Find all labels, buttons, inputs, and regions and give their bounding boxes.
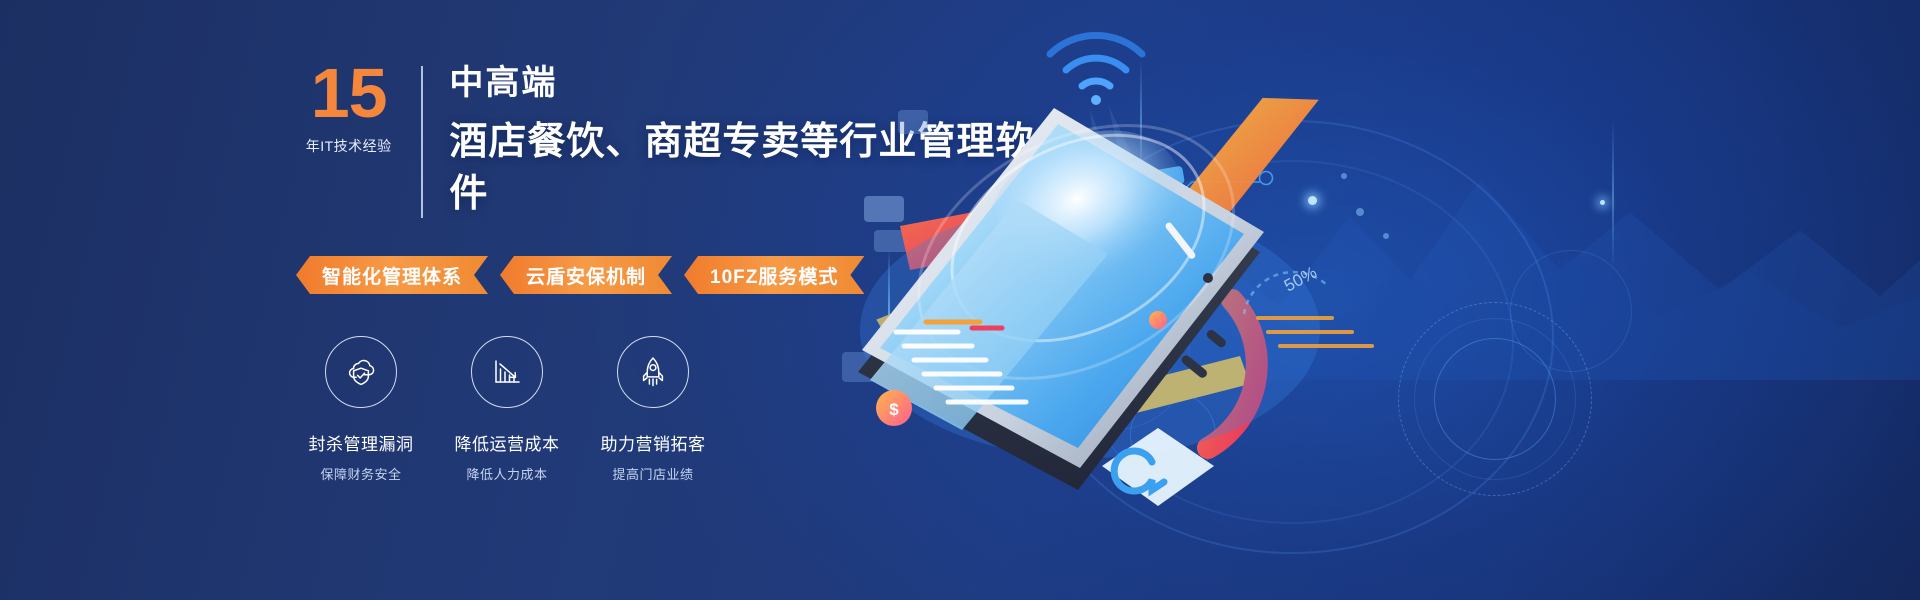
isometric-phone-scene: $ 50% (840, 0, 1920, 600)
feature-tag-1[interactable]: 智能化管理体系 (296, 256, 488, 294)
feature-title: 封杀管理漏洞 (288, 430, 434, 455)
feature-item-security[interactable]: 封杀管理漏洞 保障财务安全 (288, 336, 434, 483)
feature-icon-circle (471, 336, 543, 408)
decor-rect (898, 110, 928, 134)
promo-banner: 15 年IT技术经验 中高端 酒店餐饮、商超专卖等行业管理软件 智能化管理体系 … (0, 0, 1920, 600)
feature-tag-list: 智能化管理体系 云盾安保机制 10FZ服务模式 (296, 256, 864, 294)
feature-title: 助力营销拓客 (580, 430, 726, 455)
hero-illustration: $ 50% (840, 0, 1920, 600)
feature-tag-3[interactable]: 10FZ服务模式 (684, 256, 864, 294)
feature-item-cost[interactable]: 降低运营成本 降低人力成本 (434, 336, 580, 483)
decor-rect (864, 196, 904, 222)
feature-icon-circle (325, 336, 397, 408)
wifi-signal-icon (1050, 35, 1142, 105)
cloud-shield-icon (342, 353, 380, 391)
feature-subtitle: 保障财务安全 (288, 464, 434, 483)
phone-camera (1203, 273, 1213, 283)
rocket-icon (634, 353, 672, 391)
feature-subtitle: 降低人力成本 (434, 464, 580, 483)
declining-bar-chart-icon (488, 353, 526, 391)
feature-subtitle: 提高门店业绩 (580, 464, 726, 483)
screen-dot (1149, 311, 1167, 329)
years-badge: 15 年IT技术经验 (290, 60, 421, 156)
decor-dots (1341, 173, 1389, 239)
svg-text:$: $ (889, 400, 899, 419)
feature-title: 降低运营成本 (434, 430, 580, 455)
vertical-divider (421, 66, 423, 218)
years-number: 15 (290, 60, 407, 126)
dollar-coin-icon: $ (876, 390, 912, 426)
feature-icon-circle (617, 336, 689, 408)
years-caption: 年IT技术经验 (290, 136, 407, 156)
feature-item-marketing[interactable]: 助力营销拓客 提高门店业绩 (580, 336, 726, 483)
feature-list: 封杀管理漏洞 保障财务安全 降低运营成本 降低人力成本 (288, 336, 726, 483)
feature-tag-2[interactable]: 云盾安保机制 (500, 256, 672, 294)
